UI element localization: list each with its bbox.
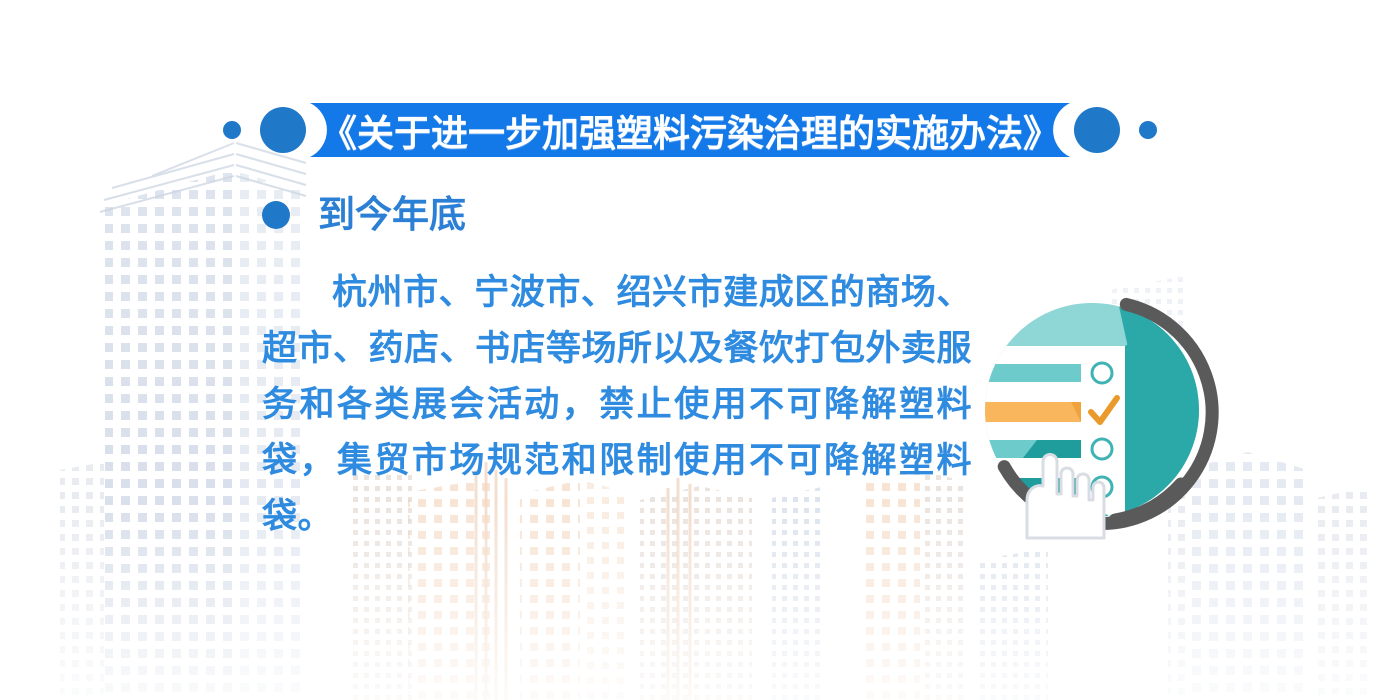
building-far-right-3 — [1316, 486, 1372, 700]
row-bar-2 — [965, 402, 1081, 422]
building-under-circle — [978, 548, 1048, 700]
body-paragraph: 杭州市、宁波市、绍兴市建成区的商场、超市、药店、书店等场所以及餐饮打包外卖服务和… — [262, 265, 972, 545]
building-far-right-2 — [1248, 452, 1308, 700]
poster-canvas: 《关于进一步加强塑料污染治理的实施办法》 到今年底 杭州市、宁波市、绍兴市建成区… — [0, 0, 1400, 700]
subtitle-label: 到今年底 — [318, 196, 466, 233]
building-left-low — [60, 462, 104, 700]
row-bar-1 — [973, 364, 1081, 382]
checklist-circle-illustration — [965, 288, 1220, 543]
title-banner: 《关于进一步加强塑料污染治理的实施办法》 — [0, 95, 1400, 165]
subtitle-row: 到今年底 — [262, 196, 466, 233]
bullet-dot-icon — [262, 201, 290, 229]
page-title: 《关于进一步加强塑料污染治理的实施办法》 — [200, 95, 1180, 165]
